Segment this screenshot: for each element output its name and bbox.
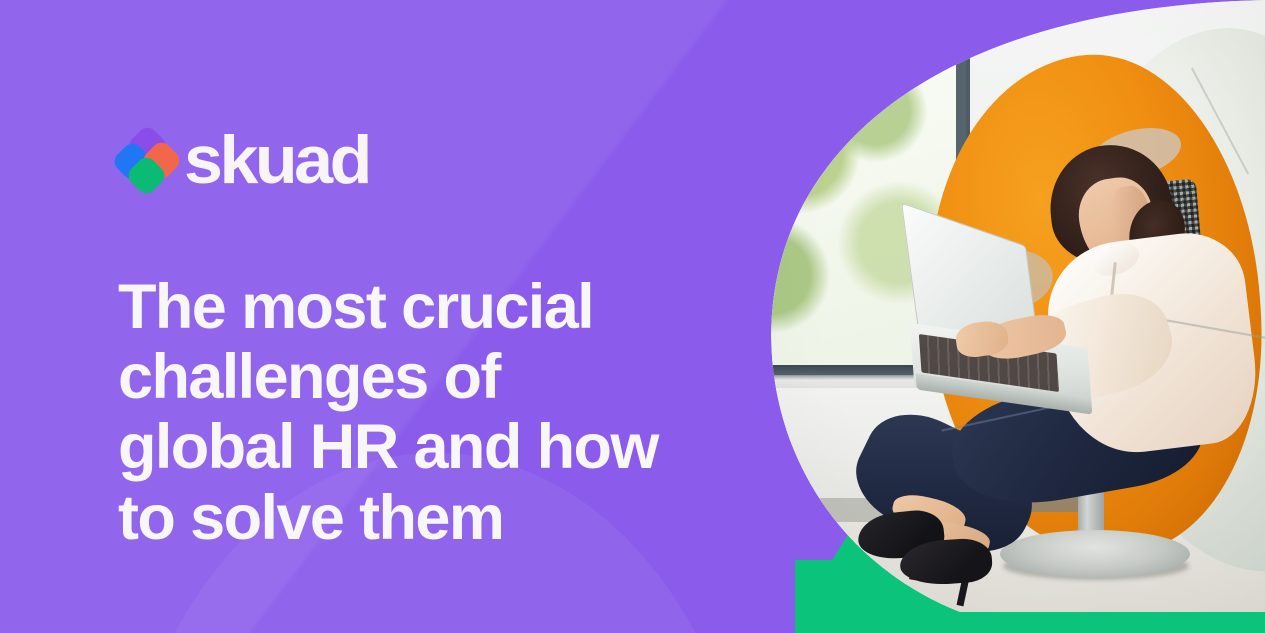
skuad-wordmark: skuad bbox=[184, 126, 369, 194]
headline-line-2: challenges of bbox=[118, 342, 758, 412]
skuad-logo-mark-icon bbox=[118, 131, 176, 189]
skuad-blog-banner: skuad The most crucial challenges of glo… bbox=[0, 0, 1265, 633]
headline-line-3: global HR and how bbox=[118, 412, 758, 482]
headline-line-4: to solve them bbox=[118, 483, 758, 553]
skuad-logo[interactable]: skuad bbox=[118, 126, 364, 194]
chair-base-disc bbox=[1000, 530, 1190, 578]
headline-line-1: The most crucial bbox=[118, 272, 758, 342]
page-title: The most crucial challenges of global HR… bbox=[118, 272, 758, 553]
